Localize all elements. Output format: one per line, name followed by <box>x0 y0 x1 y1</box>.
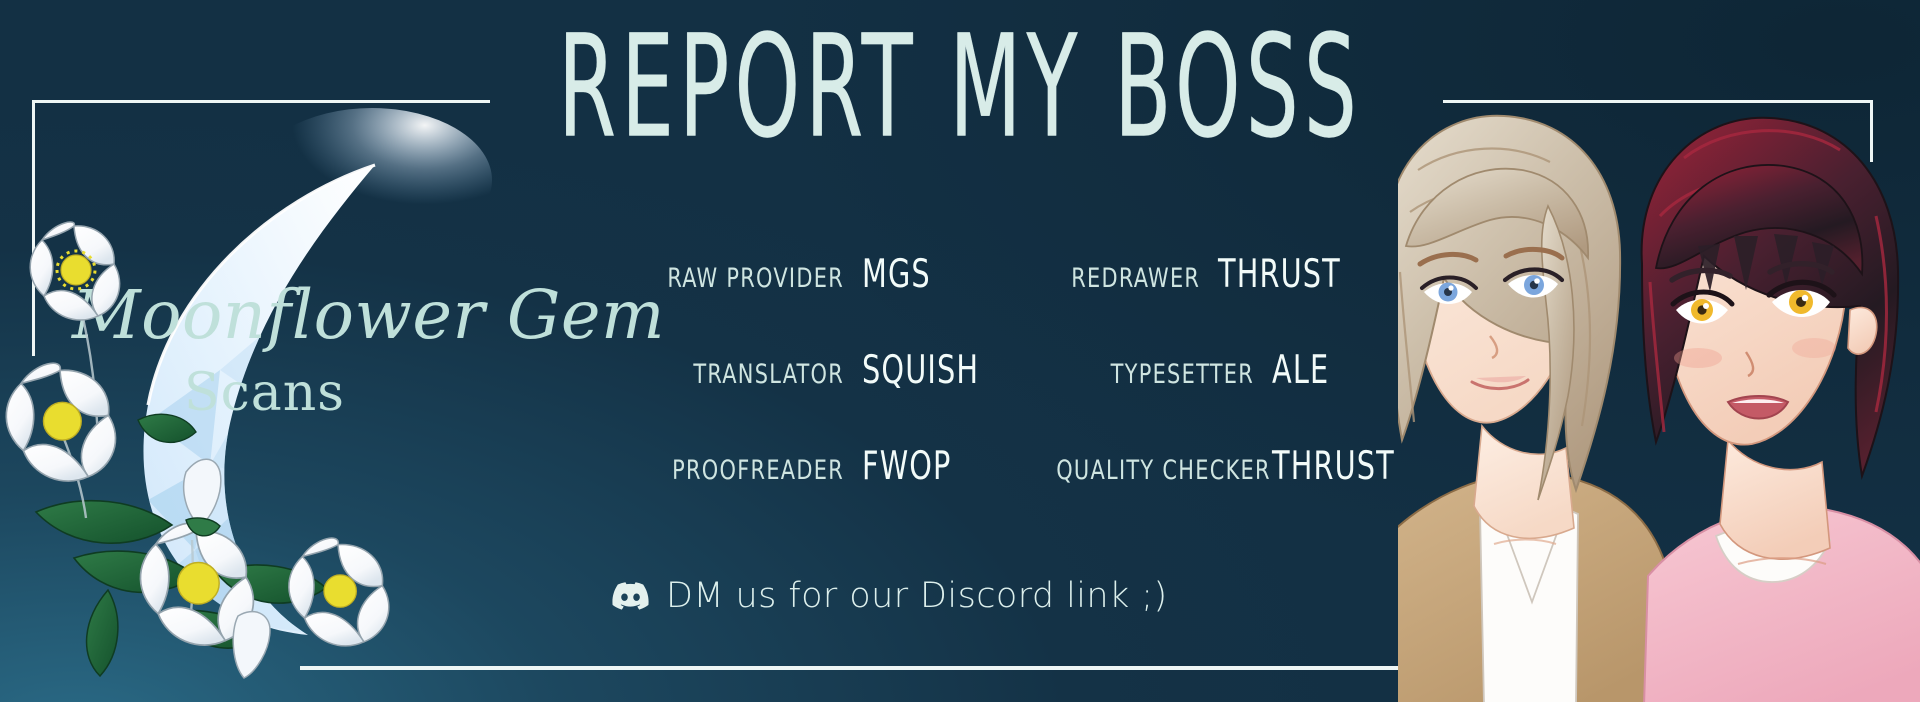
credit-value-raw-provider: MGS <box>844 252 931 297</box>
discord-text: DM us for our Discord link ;) <box>666 576 1168 616</box>
logo-flower-middle <box>6 363 115 481</box>
blond-neck <box>1474 426 1574 538</box>
credits-column-left: RAW PROVIDER MGS TRANSLATOR SQUISH PROOF… <box>612 252 1024 540</box>
credit-label-redrawer: REDRAWER <box>1049 263 1201 294</box>
discord-callout[interactable]: DM us for our Discord link ;) <box>612 576 1168 616</box>
blond-character <box>1398 116 1676 702</box>
credit-label-translator: TRANSLATOR <box>644 359 844 390</box>
credit-value-redrawer: THRUST <box>1200 252 1341 297</box>
credit-value-typesetter: ALE <box>1254 348 1329 393</box>
credit-label-proofreader: PROOFREADER <box>644 455 844 486</box>
flower-center <box>178 562 219 603</box>
frame-rule-bottom <box>300 666 1552 670</box>
credit-row: TRANSLATOR SQUISH <box>612 348 1024 444</box>
credits-banner: REPORT MY BOSS <box>0 0 1920 702</box>
credits-block: RAW PROVIDER MGS TRANSLATOR SQUISH PROOF… <box>612 252 1372 540</box>
credit-value-proofreader: FWOP <box>844 444 952 489</box>
character-illustration <box>1398 96 1920 702</box>
dark-haired-character <box>1642 118 1920 702</box>
credit-row: REDRAWER THRUST <box>1024 252 1372 348</box>
discord-icon <box>612 582 649 610</box>
logo-name-line-2: Scans <box>184 363 345 423</box>
credit-value-translator: SQUISH <box>844 348 979 393</box>
flower-center <box>324 575 356 607</box>
credit-row: QUALITY CHECKER THRUST <box>1024 444 1372 540</box>
credit-label-typesetter: TYPESETTER <box>1056 359 1254 390</box>
dark-neck <box>1720 440 1830 559</box>
credits-column-right: REDRAWER THRUST TYPESETTER ALE QUALITY C… <box>1024 252 1372 540</box>
flower-center <box>61 255 91 285</box>
credit-row: TYPESETTER ALE <box>1024 348 1372 444</box>
credit-row: PROOFREADER FWOP <box>612 444 1024 540</box>
credit-row: RAW PROVIDER MGS <box>612 252 1024 348</box>
logo-flower-top <box>30 222 119 320</box>
moonflower-gem-scans-logo: Moonflower Gem Scans <box>20 120 490 660</box>
credit-label-quality-checker: QUALITY CHECKER <box>1056 455 1254 486</box>
credit-value-quality-checker: THRUST <box>1254 444 1395 489</box>
logo-flower-right <box>289 538 389 646</box>
credit-label-raw-provider: RAW PROVIDER <box>644 263 844 294</box>
logo-name-line-1: Moonflower Gem <box>70 276 665 354</box>
flower-center <box>43 402 81 440</box>
